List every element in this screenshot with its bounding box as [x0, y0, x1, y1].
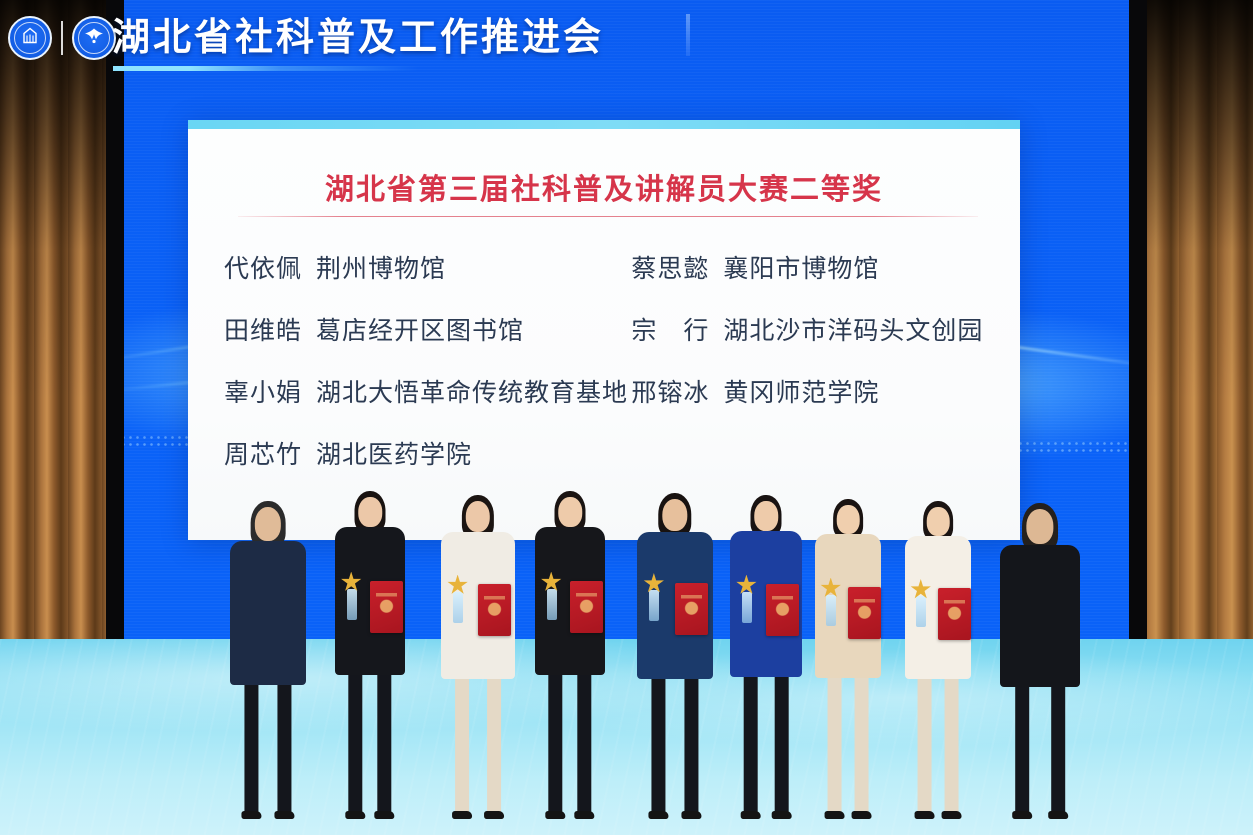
- photo-scene: 湖北省社科普及工作推进会 湖北省第三届社科普及讲解员大赛二等奖 代依佩荆州博物馆…: [0, 0, 1253, 835]
- award-certificate: [478, 584, 511, 636]
- person-shoe: [771, 811, 791, 819]
- person-leg: [774, 667, 788, 813]
- award-trophy: [912, 579, 930, 627]
- person-head: [466, 501, 490, 532]
- award-rows: 代依佩荆州博物馆蔡思懿襄阳市博物馆田维皓葛店经开区图书馆宗 行湖北沙市洋码头文创…: [224, 236, 1000, 484]
- award-trophy: [543, 572, 561, 620]
- award-trophy: [343, 572, 361, 620]
- award-entry-left: 田维皓葛店经开区图书馆: [224, 311, 631, 347]
- award-certificate: [766, 584, 799, 636]
- award-certificate: [370, 581, 403, 633]
- trophy-base: [916, 596, 926, 627]
- person-legs: [244, 669, 291, 813]
- person-leg: [685, 666, 699, 813]
- recipient-name: 蔡思懿: [631, 249, 709, 285]
- emblem-building-glyph: [20, 26, 40, 51]
- award-certificate: [938, 588, 971, 640]
- person-shoe: [851, 811, 871, 819]
- person-leg: [244, 669, 258, 813]
- hubei-provincial-emblem-icon: [8, 16, 52, 60]
- recipient-name: 田维皓: [224, 311, 302, 347]
- person-awardee-7: [905, 501, 971, 813]
- recipient-organization: 湖北大悟革命传统教育基地: [316, 373, 628, 409]
- person-awardee-2: [441, 495, 515, 813]
- person-legs: [828, 669, 869, 813]
- person-shoe: [825, 811, 845, 819]
- award-row: 辜小娟湖北大悟革命传统教育基地邢镕冰黄冈师范学院: [224, 360, 1000, 422]
- person-shoe: [915, 811, 935, 819]
- award-entry-left: 辜小娟湖北大悟革命传统教育基地: [224, 373, 631, 409]
- recipient-name: 宗 行: [631, 311, 709, 347]
- person-shoe: [545, 811, 565, 819]
- person-leg: [744, 667, 758, 813]
- person-leg: [348, 665, 362, 813]
- recipient-name: 邢镕冰: [631, 373, 709, 409]
- person-legs: [1015, 670, 1065, 813]
- person-legs: [455, 667, 501, 813]
- award-row: 代依佩荆州博物馆蔡思懿襄阳市博物馆: [224, 236, 1000, 298]
- person-shoe: [941, 811, 961, 819]
- award-certificate: [675, 583, 708, 635]
- person-shoe: [1048, 811, 1068, 819]
- header-accent-bar: [113, 66, 418, 71]
- screen-header: 湖北省社科普及工作推进会: [0, 0, 1253, 96]
- recipient-organization: 襄阳市博物馆: [723, 249, 879, 285]
- title-underline: [238, 216, 978, 217]
- person-head: [558, 497, 582, 527]
- person-leg: [548, 665, 562, 813]
- trophy-base: [649, 590, 659, 621]
- person-head: [358, 497, 382, 527]
- trophy-base: [826, 595, 836, 626]
- recipient-name: 辜小娟: [224, 373, 302, 409]
- person-awardee-6: [815, 499, 881, 813]
- person-torso: [230, 541, 306, 685]
- person-awardee-1: [335, 491, 405, 813]
- recipient-name: 代依佩: [224, 249, 302, 285]
- person-leg: [1015, 670, 1029, 813]
- panel-top-border: [188, 120, 1020, 129]
- page-title: 湖北省社科普及工作推进会: [112, 10, 604, 66]
- person-shoe: [345, 811, 365, 819]
- person-awardee-5: [730, 495, 802, 813]
- emblem-bird-glyph: [83, 26, 105, 51]
- trophy-base: [347, 589, 357, 620]
- header-logos: [8, 16, 116, 60]
- person-leg: [918, 669, 932, 813]
- person-head: [927, 507, 950, 536]
- person-leg: [1051, 670, 1065, 813]
- person-leg: [944, 669, 958, 813]
- person-shoe: [682, 811, 702, 819]
- award-entry-left: 代依佩荆州博物馆: [224, 249, 631, 285]
- person-leg: [828, 669, 842, 813]
- person-awardee-3: [535, 491, 605, 813]
- person-torso: [1000, 545, 1080, 688]
- person-head: [754, 501, 778, 531]
- award-recipients-group: [0, 465, 1253, 835]
- person-official-right: [1000, 503, 1080, 813]
- recipient-organization: 黄冈师范学院: [723, 373, 879, 409]
- recipient-organization: 荆州博物馆: [316, 249, 446, 285]
- person-awardee-4: [637, 493, 713, 813]
- person-leg: [854, 669, 868, 813]
- award-entry-right: 蔡思懿襄阳市博物馆: [631, 249, 1000, 285]
- person-official-left: [230, 501, 306, 813]
- award-trophy: [645, 573, 663, 621]
- recipient-organization: 湖北沙市洋码头文创园: [723, 311, 983, 347]
- person-head: [837, 505, 860, 534]
- award-entry-right: 邢镕冰黄冈师范学院: [631, 373, 1000, 409]
- award-certificate: [848, 587, 881, 639]
- person-leg: [487, 667, 501, 813]
- social-science-association-emblem-icon: [72, 16, 116, 60]
- person-shoe: [484, 811, 504, 819]
- person-head: [255, 507, 281, 541]
- award-entry-right: 宗 行湖北沙市洋码头文创园: [631, 311, 1000, 347]
- person-leg: [278, 669, 292, 813]
- person-legs: [918, 669, 959, 813]
- person-legs: [548, 665, 591, 813]
- trophy-base: [547, 589, 557, 620]
- person-head: [662, 499, 687, 531]
- person-shoe: [375, 811, 395, 819]
- person-legs: [348, 665, 391, 813]
- person-head: [1026, 509, 1053, 544]
- award-trophy: [449, 575, 467, 623]
- award-title: 湖北省第三届社科普及讲解员大赛二等奖: [188, 166, 1020, 208]
- award-trophy: [738, 575, 756, 623]
- award-certificate: [570, 581, 603, 633]
- person-leg: [455, 667, 469, 813]
- person-legs: [744, 667, 789, 813]
- logo-divider: [61, 21, 63, 55]
- person-leg: [578, 665, 592, 813]
- person-shoe: [452, 811, 472, 819]
- person-shoe: [741, 811, 761, 819]
- person-legs: [651, 666, 698, 813]
- person-shoe: [275, 811, 295, 819]
- person-shoe: [648, 811, 668, 819]
- person-shoe: [575, 811, 595, 819]
- person-shoe: [241, 811, 261, 819]
- hanging-decoration: [686, 14, 690, 56]
- trophy-base: [453, 592, 463, 623]
- award-row: 田维皓葛店经开区图书馆宗 行湖北沙市洋码头文创园: [224, 298, 1000, 360]
- person-leg: [378, 665, 392, 813]
- recipient-organization: 葛店经开区图书馆: [316, 311, 524, 347]
- trophy-base: [742, 592, 752, 623]
- award-trophy: [822, 578, 840, 626]
- person-leg: [651, 666, 665, 813]
- person-shoe: [1012, 811, 1032, 819]
